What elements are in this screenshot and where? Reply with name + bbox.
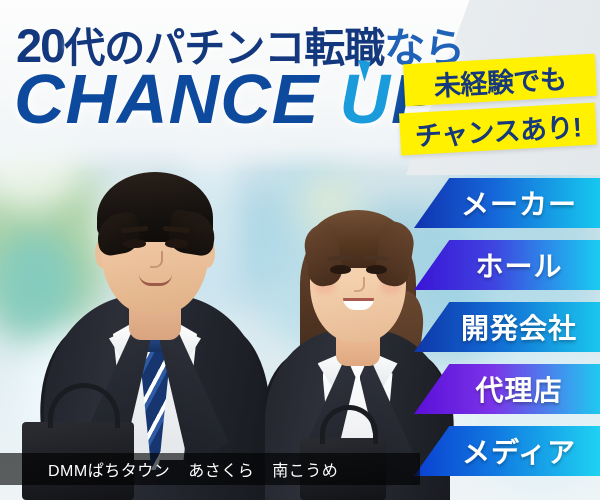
eye-left — [123, 239, 146, 248]
category-label-maker: メーカー — [437, 183, 577, 223]
credit-bar: DMMぱちタウンあさくら南こうめ — [0, 453, 420, 485]
logo-chance-text: CHANCE — [14, 60, 319, 138]
eye-right — [366, 265, 387, 274]
credit-site: DMMぱちタウン — [48, 463, 170, 480]
eye-right — [165, 239, 188, 248]
category-label-media: メディア — [438, 431, 576, 471]
badge-chance-available-label: チャンスあり! — [414, 105, 583, 153]
recruitment-banner: 20代のパチンコ転職なら CHANCEUP 未経験でも チャンスあり! メーカー… — [0, 0, 600, 500]
nose — [354, 277, 365, 292]
credit-name-1: あさくら — [188, 463, 254, 480]
category-label-hall: ホール — [451, 245, 562, 285]
logo-u-letter: U — [339, 62, 391, 136]
badge-no-experience-label: 未経験でも — [433, 57, 567, 103]
credit-text: DMMぱちタウンあさくら南こうめ — [0, 457, 338, 481]
category-label-agency: 代理店 — [451, 369, 562, 409]
credit-name-2: 南こうめ — [272, 463, 338, 480]
chance-up-logo: CHANCEUP — [14, 62, 439, 136]
category-label-developer: 開発会社 — [437, 307, 577, 347]
eye-left — [330, 265, 351, 274]
